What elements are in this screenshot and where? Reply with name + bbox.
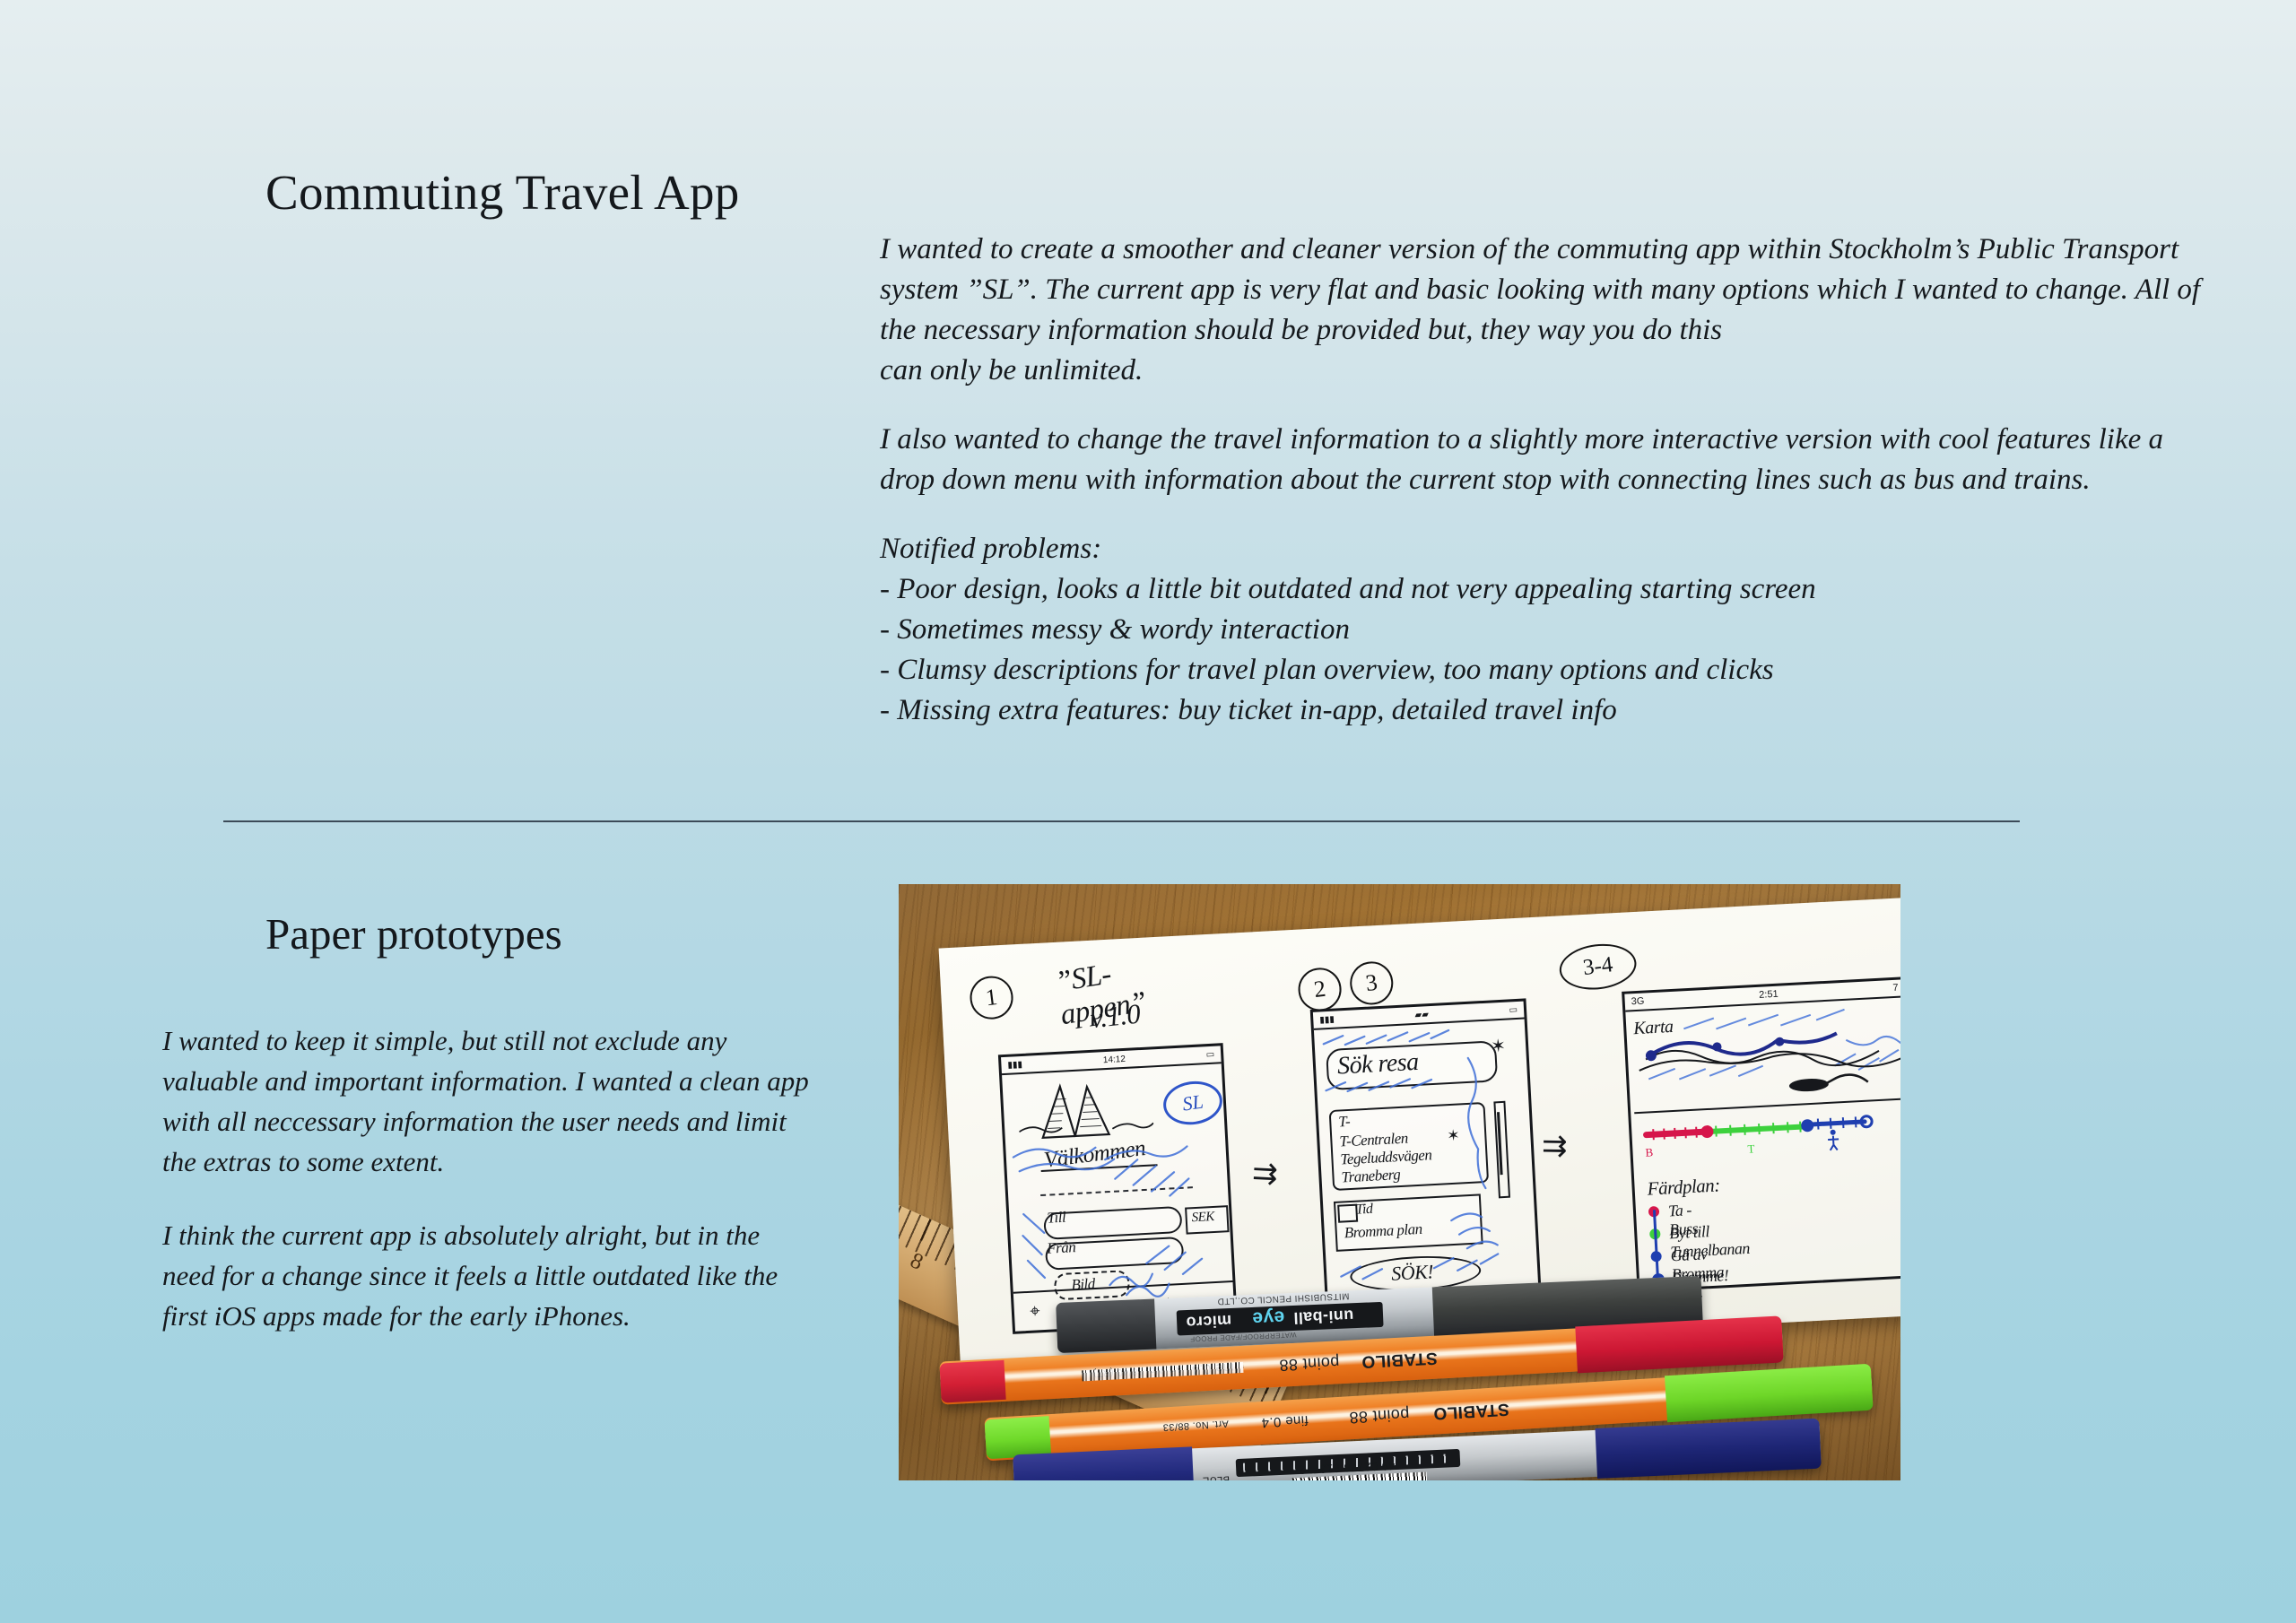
pen-uniball-tip [1056,1298,1156,1353]
sketch-depart-label: Bromma plan [1344,1220,1422,1243]
scrollbar-thumb[interactable] [1497,1112,1503,1175]
sketch-route-line: B T [1640,1108,1900,1167]
problem-item: - Poor design, looks a little bit outdat… [880,569,2225,610]
section-divider [223,820,2020,822]
slide-page: Commuting Travel App I wanted to create … [0,0,2296,1623]
sketch-stop-3: Traneberg [1341,1166,1401,1186]
panel-number-2: 2 [1296,966,1344,1013]
statusbar-time-1: 14:12 [1103,1054,1126,1064]
svg-text:T: T [1747,1141,1755,1155]
problems-list: - Poor design, looks a little bit outdat… [880,569,2225,731]
pen-stabilo-green-artno: Art. No. 88/33 [1162,1418,1229,1432]
pen-stabilo-green-brand: STABILO [1432,1399,1509,1423]
statusbar-distance-3: 7 km [1892,982,1900,994]
section-title-paper-prototypes: Paper prototypes [265,908,562,959]
intro-text-block: I wanted to create a smoother and cleane… [880,230,2225,731]
intro-paragraph-2: I also wanted to change the travel infor… [880,420,2225,500]
signal-icon: ▮▮▮ [1319,1014,1335,1025]
statusbar-time-3: 2:51 [1759,989,1779,1001]
sketch-legend-heading: Färdplan: [1647,1174,1720,1200]
sketch-skyline-drawing [1016,1072,1153,1142]
sketch-phone-frame-3: 3G 2:51 7 km Karta [1622,976,1900,1292]
star-icon[interactable]: ✶ [1490,1035,1506,1058]
problem-item: - Missing extra features: buy ticket in-… [880,690,2225,731]
sketch-label-to: Till [1047,1209,1066,1228]
problems-group: Notified problems: - Poor design, looks … [880,529,2225,731]
page-title: Commuting Travel App [265,164,740,221]
sketch-search-title: Sök resa [1336,1048,1419,1081]
sketch-dropdown-label: T- [1338,1113,1351,1132]
legend-row: Gå av Bromma plan. [1650,1250,1651,1272]
problem-item: - Sometimes messy & wordy interaction [880,610,2225,650]
pen-stabilo-red-model: point 88 [1279,1352,1340,1374]
sketch-time-label: Tid [1355,1202,1373,1219]
sketch-label-from: Från [1047,1238,1076,1258]
legend-row: Byt till Tunnelbanan [1649,1228,1650,1250]
pen-uniball-size: micro [1186,1311,1232,1332]
sketch-search-button-label: SÖK! [1391,1260,1434,1285]
legend-row: Ta -Buss [1648,1205,1649,1228]
sketch-map-drawing [1630,1001,1900,1115]
svg-text:B: B [1645,1145,1654,1159]
pen-stabilo-green-model: point 88 [1349,1404,1410,1427]
sketch-phone-frame-2: ▮▮▮ ▰▰ ▭ Sök resa ✶ T- T-Centralen Tegel… [1310,998,1542,1310]
ruler-mark: 8 [906,1248,926,1276]
sketch-statusbar-1: ▮▮▮ 14:12 ▭ [1001,1046,1222,1075]
pen-stabilo-red-brand: STABILO [1361,1348,1438,1371]
arrow-icon-right-1: ⇉ [1251,1155,1279,1192]
intro-paragraph-1-text: I wanted to create a smoother and cleane… [880,233,2200,346]
paper-prototype-photo: 7 8 9 10 1 ”SL-appen” v.1.0 ▮▮▮ 14:12 [899,884,1900,1480]
problems-heading: Notified problems: [880,529,2225,569]
sketch-phone-frame-1: ▮▮▮ 14:12 ▭ [998,1043,1238,1334]
battery-icon: ▭ [1205,1049,1214,1059]
problem-item: - Clumsy descriptions for travel plan ov… [880,650,2225,690]
arrow-icon-right-2: ⇉ [1542,1128,1568,1164]
prototype-text-block: I wanted to keep it simple, but still no… [162,1020,817,1336]
pen-blue-color-word: BLUE [1202,1474,1230,1480]
sl-logo-icon: SL [1161,1078,1225,1129]
panel-number-3-4: 3-4 [1557,940,1639,994]
wifi-icon: ▰▰ [1414,1010,1429,1020]
prototype-paragraph-1: I wanted to keep it simple, but still no… [162,1020,817,1182]
panel-number-1: 1 [968,974,1015,1021]
panel-number-3: 3 [1348,959,1396,1007]
statusbar-signal-3: 3G [1631,996,1644,1008]
pin-icon[interactable]: ⌖ [1030,1301,1040,1323]
sketch-dashed-divider [1040,1186,1193,1196]
scrollbar[interactable] [1493,1101,1510,1199]
sketch-statusbar-2: ▮▮▮ ▰▰ ▭ [1313,1002,1525,1030]
photo-contents: 7 8 9 10 1 ”SL-appen” v.1.0 ▮▮▮ 14:12 [899,884,1900,1480]
pen-stabilo-red-tip [939,1360,1005,1403]
star-icon[interactable]: ✶ [1447,1127,1460,1146]
sketch-stop-2: Tegeluddsvägen [1340,1146,1432,1168]
prototype-paragraph-2: I think the current app is absolutely al… [162,1215,817,1336]
intro-paragraph-1-tail: can only be unlimited. [880,354,1143,386]
signal-icon: ▮▮▮ [1007,1059,1022,1070]
pen-stabilo-green-size: fine 0.4 [1261,1412,1309,1430]
pen-uniball-model: eye [1252,1306,1285,1328]
intro-paragraph-1: I wanted to create a smoother and cleane… [880,230,2225,391]
battery-icon: ▭ [1509,1004,1518,1014]
pen-blue-cap [1596,1419,1822,1479]
sketch-price-label: SEK [1191,1210,1214,1226]
pen-uniball-brand: uni-ball [1293,1306,1354,1327]
sketch-time-panel[interactable]: Tid Bromma plan [1334,1193,1483,1252]
checkbox-icon[interactable] [1337,1204,1358,1223]
sketch-dropdown-panel[interactable]: T- T-Centralen Tegeluddsvägen Traneberg … [1329,1102,1489,1191]
sketch-price-button[interactable]: SEK [1185,1205,1230,1234]
sketch-title-line-2: v.1.0 [1089,998,1142,1036]
